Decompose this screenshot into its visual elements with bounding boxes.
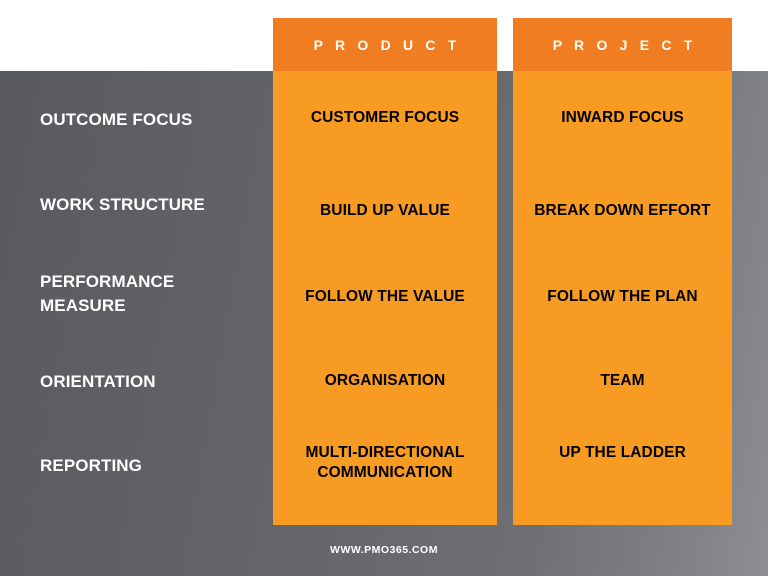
column-header-project-label: P R O J E C T — [549, 38, 697, 52]
cell-project-work-structure: BREAK DOWN EFFORT — [513, 201, 732, 221]
column-project: P R O J E C T INWARD FOCUS BREAK DOWN EF… — [513, 18, 732, 525]
column-product: P R O D U C T CUSTOMER FOCUS BUILD UP VA… — [273, 18, 497, 525]
cell-project-reporting: UP THE LADDER — [513, 443, 732, 463]
cell-product-reporting: MULTI-DIRECTIONAL COMMUNICATION — [273, 443, 497, 483]
column-header-project: P R O J E C T — [513, 18, 732, 71]
column-body-product: CUSTOMER FOCUS BUILD UP VALUE FOLLOW THE… — [273, 71, 497, 525]
footer-website: WWW.PMO365.COM — [0, 544, 768, 556]
row-label-performance-measure: PERFORMANCE MEASURE — [40, 270, 265, 318]
cell-product-outcome-focus: CUSTOMER FOCUS — [273, 108, 497, 128]
column-header-product: P R O D U C T — [273, 18, 497, 71]
row-label-reporting: REPORTING — [40, 454, 265, 478]
cell-product-work-structure: BUILD UP VALUE — [273, 201, 497, 221]
cell-project-performance-measure: FOLLOW THE PLAN — [513, 287, 732, 307]
cell-project-outcome-focus: INWARD FOCUS — [513, 108, 732, 128]
row-label-orientation: ORIENTATION — [40, 370, 265, 394]
comparison-infographic: OUTCOME FOCUS WORK STRUCTURE PERFORMANCE… — [0, 0, 768, 576]
cell-product-orientation: ORGANISATION — [273, 371, 497, 391]
row-label-work-structure: WORK STRUCTURE — [40, 193, 265, 217]
cell-project-orientation: TEAM — [513, 371, 732, 391]
column-body-project: INWARD FOCUS BREAK DOWN EFFORT FOLLOW TH… — [513, 71, 732, 525]
cell-product-performance-measure: FOLLOW THE VALUE — [273, 287, 497, 307]
column-header-product-label: P R O D U C T — [309, 38, 460, 52]
row-label-outcome-focus: OUTCOME FOCUS — [40, 108, 265, 132]
